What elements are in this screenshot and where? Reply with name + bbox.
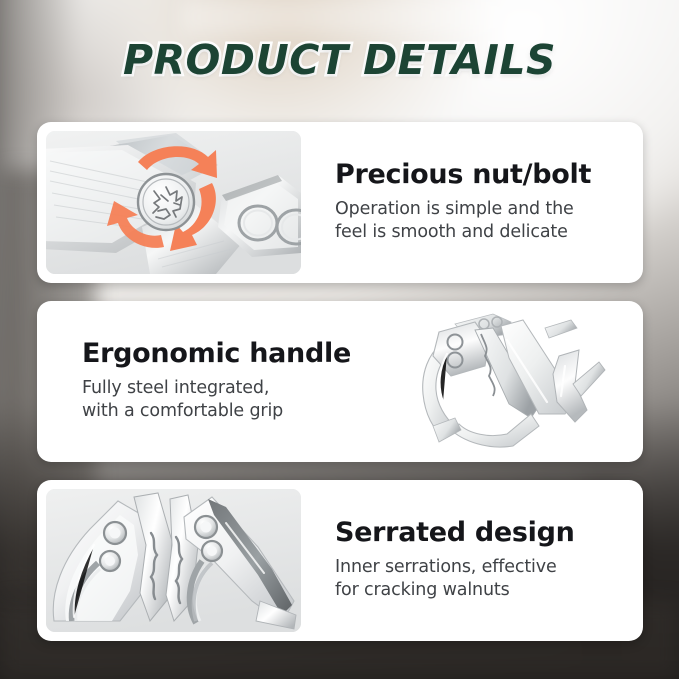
feature-card-1-subline-line1: Operation is simple and the bbox=[335, 198, 614, 221]
feature-card-3-headline: Serrated design bbox=[335, 518, 614, 548]
feature-card-1-headline: Precious nut/bolt bbox=[335, 160, 614, 190]
serrated-jaws-illustration bbox=[46, 489, 301, 632]
feature-card-3-subline-line2: for cracking walnuts bbox=[335, 579, 614, 602]
feature-card-2-copy: Ergonomic handle Fully steel integrated,… bbox=[46, 339, 389, 423]
feature-card-ergonomic-handle[interactable]: Ergonomic handle Fully steel integrated,… bbox=[37, 301, 643, 462]
page-title-container: PRODUCT DETAILS bbox=[0, 36, 679, 84]
full-nutcracker-photo bbox=[389, 310, 634, 453]
pivot-bolt-head bbox=[138, 174, 194, 230]
feature-card-2-subline-line1: Fully steel integrated, bbox=[82, 377, 375, 400]
feature-card-precious-nut-bolt[interactable]: Precious nut/bolt Operation is simple an… bbox=[37, 122, 643, 283]
background-highlight-streak-top bbox=[180, 0, 510, 34]
serrated-jaws-closeup-photo bbox=[46, 489, 301, 632]
feature-card-2-subline-line2: with a comfortable grip bbox=[82, 400, 375, 423]
page-title: PRODUCT DETAILS bbox=[123, 36, 556, 84]
pivot-bolt-illustration bbox=[46, 131, 301, 274]
full-nutcracker-illustration bbox=[389, 310, 634, 453]
feature-card-1-subline-line2: feel is smooth and delicate bbox=[335, 221, 614, 244]
feature-card-3-copy: Serrated design Inner serrations, effect… bbox=[301, 518, 634, 602]
feature-card-3-subline-line1: Inner serrations, effective bbox=[335, 556, 614, 579]
feature-card-serrated-design[interactable]: Serrated design Inner serrations, effect… bbox=[37, 480, 643, 641]
feature-card-2-headline: Ergonomic handle bbox=[82, 339, 375, 369]
pivot-bolt-closeup-photo bbox=[46, 131, 301, 274]
feature-card-list: Precious nut/bolt Operation is simple an… bbox=[37, 122, 643, 659]
feature-card-1-copy: Precious nut/bolt Operation is simple an… bbox=[301, 160, 634, 244]
